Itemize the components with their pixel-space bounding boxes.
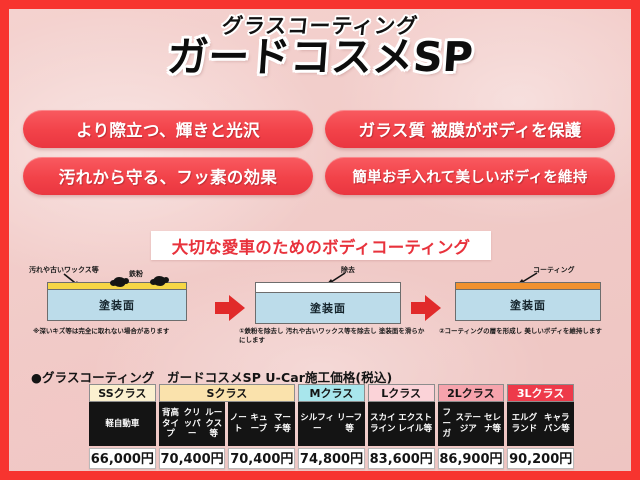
- step2-base-layer: 塗装面: [255, 292, 401, 324]
- step1-layer-stack: 塗装面: [47, 282, 187, 321]
- price-value-cell-5: 83,600円: [368, 448, 435, 469]
- process-diagram: 汚れや古いワックス等 鉄粉 塗装面 ※深いキズ等は完全に取れない場合があります …: [19, 265, 621, 357]
- price-table-model-row: 軽自動車背高タイプクリッパールークス等ノートキューブマーチ等シルフィーリーフ等ス…: [89, 402, 577, 446]
- feature-pill-1: より際立つ、輝きと光沢: [23, 110, 313, 148]
- advertisement-poster: グラスコーティング ガードコスメSP より際立つ、輝きと光沢ガラス質 被膜がボデ…: [0, 0, 640, 480]
- price-class-header-2: Sクラス: [159, 384, 295, 402]
- price-value-cell-3: 70,400円: [228, 448, 295, 469]
- title-main: ガードコスメSP: [7, 35, 632, 79]
- price-value-cell-6: 86,900円: [438, 448, 505, 469]
- feature-pill-4: 簡単お手入れて美しいボディを維持: [325, 157, 615, 195]
- step2-top-layer: [255, 282, 401, 292]
- price-class-header-4: Lクラス: [368, 384, 435, 402]
- price-table-price-row: 66,000円70,400円70,400円74,800円83,600円86,90…: [89, 446, 577, 469]
- price-value-cell-1: 66,000円: [89, 448, 156, 469]
- price-table: SSクラスSクラスMクラスLクラス2Lクラス3Lクラス 軽自動車背高タイプクリッ…: [89, 384, 577, 469]
- step3-label-coating: コーティング: [533, 265, 575, 275]
- price-model-cell-3: ノートキューブマーチ等: [228, 402, 295, 446]
- price-model-cell-5: スカイラインエクストレイル等: [368, 402, 435, 446]
- process-step-1: 汚れや古いワックス等 鉄粉 塗装面 ※深いキズ等は完全に取れない場合があります: [25, 265, 203, 357]
- iron-powder-blob-icon: [153, 276, 166, 286]
- price-table-class-row: SSクラスSクラスMクラスLクラス2Lクラス3Lクラス: [89, 384, 577, 402]
- step1-label-ironpowder: 鉄粉: [129, 269, 143, 279]
- price-model-cell-1: 軽自動車: [89, 402, 156, 446]
- iron-powder-blob-icon: [113, 277, 126, 287]
- price-class-header-3: Mクラス: [298, 384, 365, 402]
- feature-pill-3: 汚れから守る、フッ素の効果: [23, 157, 313, 195]
- step3-top-layer: [455, 282, 601, 289]
- price-class-header-5: 2Lクラス: [438, 384, 505, 402]
- step1-base-layer: 塗装面: [47, 289, 187, 321]
- poster-inner: グラスコーティング ガードコスメSP より際立つ、輝きと光沢ガラス質 被膜がボデ…: [9, 9, 631, 471]
- price-model-cell-2: 背高タイプクリッパールークス等: [159, 402, 226, 446]
- price-value-cell-7: 90,200円: [507, 448, 574, 469]
- section-banner: 大切な愛車のためのボディコーティング: [151, 231, 491, 260]
- process-step-3: コーティング 塗装面 ②コーティングの層を形成し 美しいボディを維持します: [437, 265, 615, 357]
- process-step-2: 除去 塗装面 ①鉄粉を除去し 汚れや古いワックス等を除去し 塗装面を滑らかにしま…: [237, 265, 415, 357]
- price-value-cell-2: 70,400円: [159, 448, 226, 469]
- step2-layer-stack: 塗装面: [255, 282, 401, 324]
- step3-caption: ②コーティングの層を形成し 美しいボディを維持します: [439, 327, 625, 336]
- step3-base-layer: 塗装面: [455, 289, 601, 321]
- price-model-cell-6: フーガステージアセレナ等: [438, 402, 505, 446]
- feature-pill-2: ガラス質 被膜がボディを保護: [325, 110, 615, 148]
- feature-pill-list: より際立つ、輝きと光沢ガラス質 被膜がボディを保護汚れから守る、フッ素の効果簡単…: [23, 110, 619, 195]
- title-block: グラスコーティング ガードコスメSP: [9, 15, 631, 79]
- step3-layer-stack: 塗装面: [455, 282, 601, 321]
- price-value-cell-4: 74,800円: [298, 448, 365, 469]
- price-class-header-6: 3Lクラス: [507, 384, 574, 402]
- price-model-cell-7: エルグランドキャラバン等: [507, 402, 574, 446]
- step1-caption: ※深いキズ等は完全に取れない場合があります: [33, 327, 213, 336]
- price-class-header-1: SSクラス: [89, 384, 156, 402]
- step2-caption: ①鉄粉を除去し 汚れや古いワックス等を除去し 塗装面を滑らかにします: [239, 327, 425, 345]
- price-model-cell-4: シルフィーリーフ等: [298, 402, 365, 446]
